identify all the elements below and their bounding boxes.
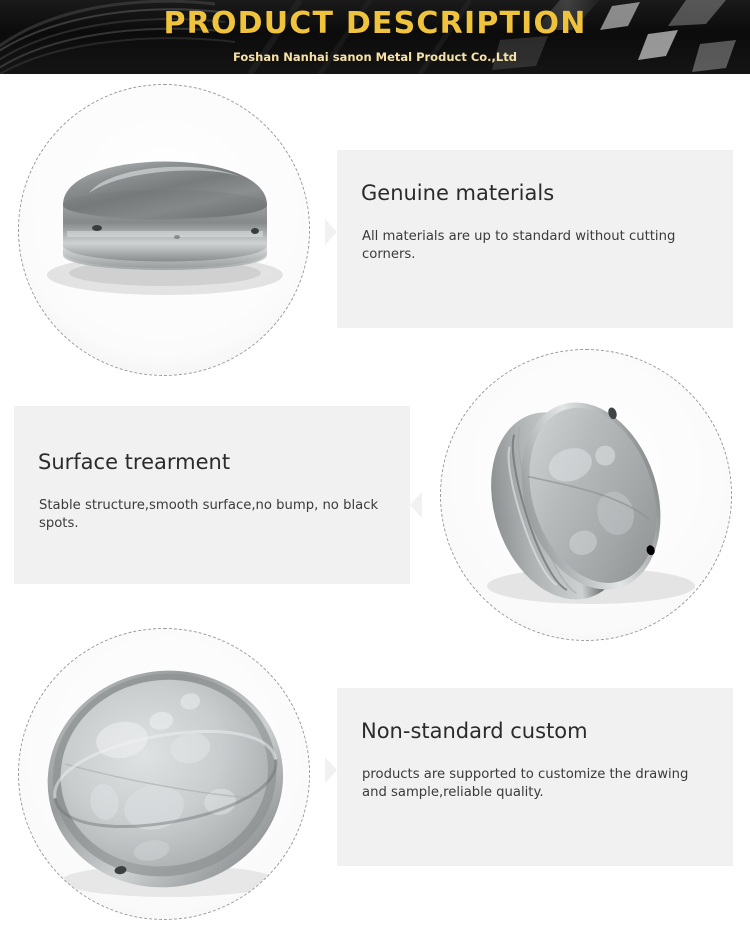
- feature-panel-1-pointer: [325, 219, 337, 245]
- product-photo-2-image: [441, 350, 731, 640]
- feature-panel-3: Non-standard custom products are support…: [337, 688, 733, 866]
- product-photo-2: [440, 349, 732, 641]
- product-photo-3: [18, 628, 310, 920]
- product-photo-1-image: [19, 85, 309, 375]
- feature-panel-1: Genuine materials All materials are up t…: [337, 150, 733, 328]
- feature-panel-2: Surface trearment Stable structure,smoot…: [14, 406, 410, 584]
- feature-panel-3-pointer: [325, 757, 337, 783]
- company-name: Foshan Nanhai sanon Metal Product Co.,Lt…: [0, 50, 750, 64]
- feature-panel-3-title: Non-standard custom: [361, 719, 588, 743]
- product-photo-3-image: [19, 629, 309, 919]
- header-banner: PRODUCT DESCRIPTION Foshan Nanhai sanon …: [0, 0, 750, 74]
- feature-panel-1-title: Genuine materials: [361, 181, 554, 205]
- page-title: PRODUCT DESCRIPTION: [0, 6, 750, 41]
- feature-panel-1-body: All materials are up to standard without…: [362, 228, 702, 264]
- feature-panel-2-body: Stable structure,smooth surface,no bump,…: [39, 497, 389, 533]
- feature-panel-2-title: Surface trearment: [38, 450, 230, 474]
- feature-panel-3-body: products are supported to customize the …: [362, 766, 702, 802]
- feature-panel-2-pointer: [410, 492, 422, 518]
- product-photo-1: [18, 84, 310, 376]
